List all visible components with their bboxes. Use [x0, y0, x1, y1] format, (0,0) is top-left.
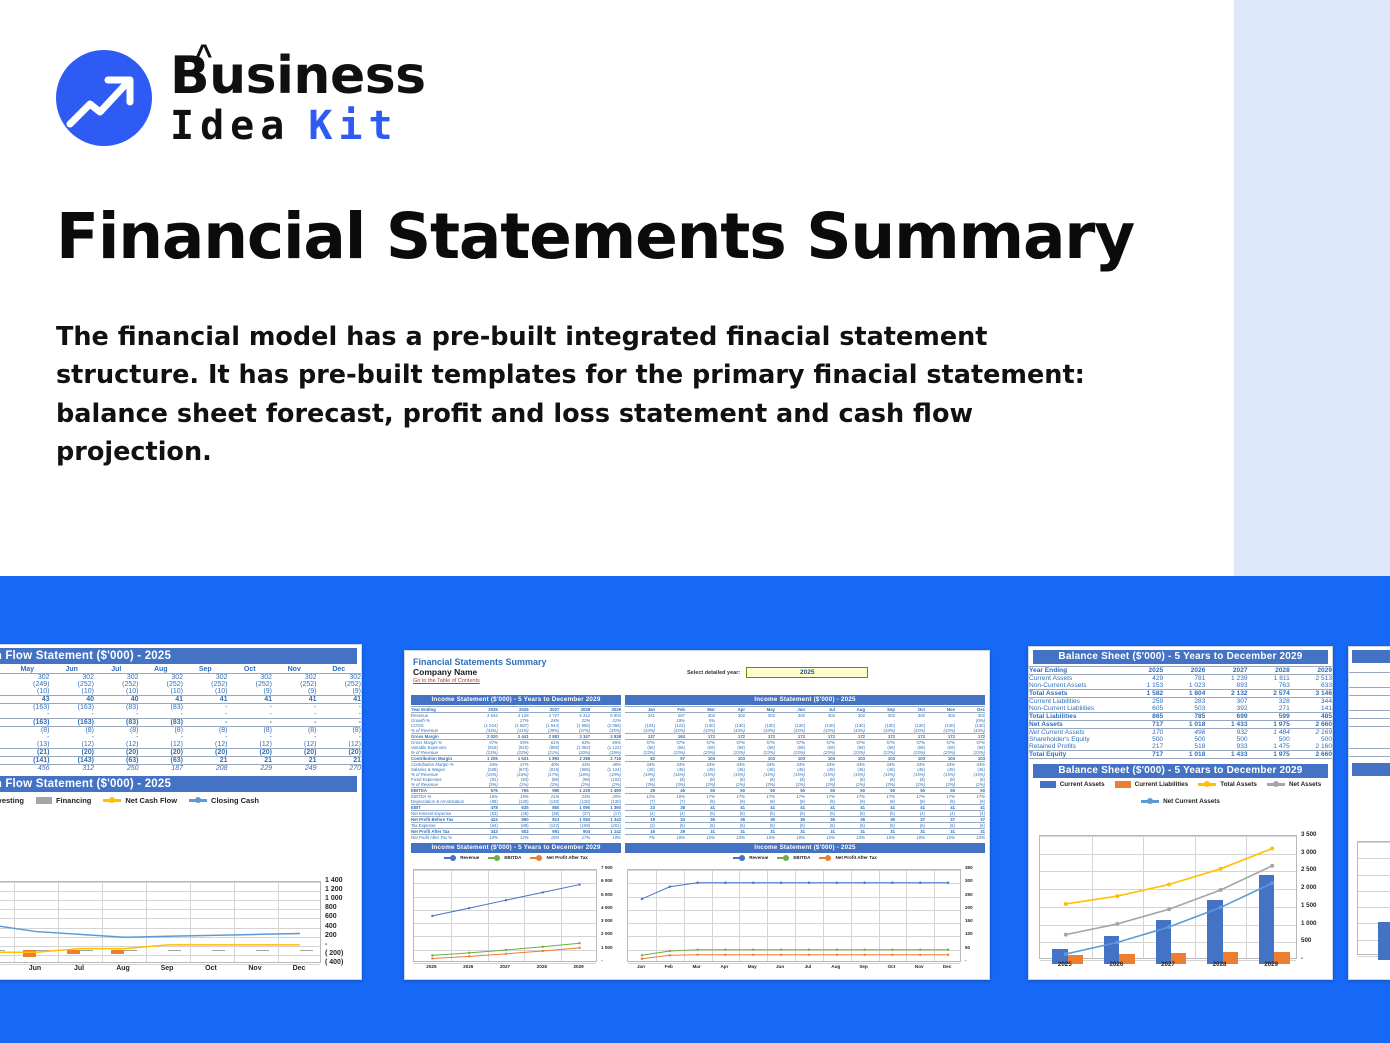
table-of-contents-link[interactable]: Go to the Table of Contents: [413, 678, 981, 684]
table-cell: (10): [50, 688, 95, 696]
table-row: (163)(163)(83)(83)----: [0, 704, 361, 712]
y-axis-tick: 1 000: [1301, 920, 1316, 927]
table-cell: 217: [1121, 743, 1163, 751]
table-cell: 932: [1205, 729, 1247, 737]
table-cell: 10%: [955, 835, 985, 841]
legend-label: Closing Cash: [211, 796, 259, 805]
table-cell: (143): [50, 757, 95, 765]
y-axis-tick: 2 000: [601, 931, 613, 936]
cashflow-chart-title: Cash Flow Statement ($'000) - 2025: [0, 776, 357, 792]
table-row: Net Profit After Tax %10%12%15%17%19%: [411, 835, 621, 841]
row-label: Depreciation & Amortisation: [411, 799, 467, 805]
table-cell: (63): [94, 757, 139, 765]
legend-label: Net Profit After Tax: [835, 855, 876, 860]
x-axis-tick: Mar: [683, 964, 711, 969]
year-selector-label: Select detailed year:: [687, 670, 740, 676]
table-cell: 170: [1121, 729, 1163, 737]
income-12m-chart[interactable]: 35030025020015010050-JanFebMarAprMayJunJ…: [625, 865, 985, 973]
table-cell: 498: [1163, 729, 1205, 737]
table-row: Current Assets4297811 2391 8112 513: [1029, 675, 1332, 683]
table-cell: (20): [50, 749, 95, 757]
col-header: Nov: [272, 666, 317, 674]
right-accent-panel: [1234, 0, 1390, 576]
table-cell: -: [228, 704, 273, 712]
table-row: (10)(10)(10)(10)(10)(9)(9)(9): [0, 688, 361, 696]
table-cell: -: [50, 711, 95, 719]
table-cell: 302: [5, 674, 50, 682]
table-cell: 10%: [925, 835, 955, 841]
table-cell: (163): [50, 719, 95, 727]
y-axis-tick: -: [601, 958, 603, 963]
table-cell: 302: [272, 674, 317, 682]
table-cell: 500: [1121, 736, 1163, 743]
table-cell: 599: [1248, 713, 1290, 721]
is12-chart-legend: Revenue EBITDA Net Profit After Tax: [625, 855, 985, 860]
x-axis-tick: Aug: [101, 965, 145, 972]
table-cell: 781: [1163, 675, 1205, 683]
col-header: May: [5, 666, 50, 674]
table-cell: 312: [50, 765, 95, 773]
x-axis-tick: 2026: [450, 964, 487, 969]
table-row: 4340404141414141: [0, 696, 361, 704]
table-cell: 15%: [529, 835, 560, 841]
table-cell: 2025: [1121, 667, 1163, 675]
col-header: Dec: [317, 666, 362, 674]
table-cell: 17%: [559, 835, 590, 841]
doc-title: Financial Statements Summary: [413, 657, 981, 667]
chart-lines: [1040, 836, 1298, 960]
balance-sheet-table: Year Ending20252026202720282029Current A…: [1029, 666, 1332, 759]
chart-lines: [628, 870, 962, 963]
table-row: 1 081: [1349, 727, 1390, 735]
slide-root: Business ^ Idea Kit Financial Statements…: [0, 0, 1390, 1043]
table-row: Total Liabilities865785699599485: [1029, 713, 1332, 721]
table-cell: -: [94, 734, 139, 741]
table-cell: -: [317, 734, 362, 741]
table-cell: 1 018: [1163, 751, 1205, 759]
y-axis-tick: 400: [325, 923, 337, 930]
edge-table-title: [1352, 650, 1390, 663]
table-cell: 43: [5, 696, 50, 704]
table-cell: (252): [94, 681, 139, 688]
plot-area: [1039, 835, 1297, 959]
y-axis-tick: 200: [965, 905, 973, 910]
chart-lines: [0, 882, 322, 964]
table-cell: 344: [1290, 698, 1332, 706]
table-cell: (8): [272, 727, 317, 735]
table-row: Non-Current Liabilities605503392271141: [1029, 705, 1332, 713]
row-label: Year Ending: [1029, 667, 1121, 675]
table-header-row: May Jun Jul Aug Sep Oct Nov Dec: [0, 666, 361, 674]
table-row: --------: [0, 734, 361, 741]
legend-label: EBITDA: [793, 855, 810, 860]
cashflow-table: May Jun Jul Aug Sep Oct Nov Dec 30230230…: [0, 666, 361, 772]
y-axis-tick: 1 200: [325, 886, 343, 893]
table-cell: 10%: [685, 835, 715, 841]
table-cell: (141): [5, 757, 50, 765]
table-cell: (63): [139, 757, 184, 765]
y-axis-tick: 4 000: [601, 905, 613, 910]
balance-screenshot-card[interactable]: Balance Sheet ($'000) - 5 Years to Decem…: [1028, 646, 1333, 980]
table-cell: (8): [139, 727, 184, 735]
table-cell: (10): [94, 688, 139, 696]
row-label: Total Liabilities: [1029, 713, 1121, 721]
x-axis-tick: Dec: [933, 964, 961, 969]
table-cell: 283: [1163, 698, 1205, 706]
table-cell: (8): [183, 727, 228, 735]
plot-area: [0, 881, 321, 963]
y-axis-tick: ( 400): [325, 959, 343, 966]
table-cell: 500: [1248, 736, 1290, 743]
table-cell: 933: [1205, 743, 1247, 751]
y-axis-tick: -: [1301, 955, 1303, 962]
year-selector-input[interactable]: 2025: [746, 667, 868, 678]
table-cell: -: [228, 711, 273, 719]
income-screenshot-card[interactable]: Financial Statements Summary Company Nam…: [404, 650, 990, 980]
table-row: (163)(163)(83)(83)----: [0, 719, 361, 727]
table-row: 500: [1349, 734, 1390, 741]
table-row: Jan: [1349, 665, 1390, 673]
row-label: Non-Current Liabilities: [1029, 705, 1121, 713]
col-header: Sep: [183, 666, 228, 674]
table-cell: (8): [50, 727, 95, 735]
table-row: 302302302302302302302302: [0, 674, 361, 682]
table-cell: 512: [1349, 749, 1390, 757]
table-cell: (252): [317, 681, 362, 688]
logo-word-idea: Idea: [170, 106, 290, 146]
table-cell: -: [50, 734, 95, 741]
table-cell: 302: [139, 674, 184, 682]
table-cell: 1 475: [1248, 743, 1290, 751]
table-cell: 41: [139, 696, 184, 704]
table-row: 512: [1349, 749, 1390, 757]
table-cell: 10%: [715, 835, 745, 841]
table-cell: (252): [183, 681, 228, 688]
table-cell: 93: [1349, 696, 1390, 704]
table-cell: 785: [1163, 713, 1205, 721]
table-cell: 1 811: [1248, 675, 1290, 683]
table-cell: 2 169: [1290, 729, 1332, 737]
page-title: Financial Statements Summary: [56, 204, 1176, 270]
table-cell: 302: [317, 674, 362, 682]
table-row: Total Assets1 5821 8042 1322 5743 146: [1029, 690, 1332, 698]
legend-label: Total Assets: [1220, 781, 1257, 788]
table-row: 93: [1349, 696, 1390, 704]
table-cell: (83): [139, 719, 184, 727]
table-row: 1 174: [1349, 673, 1390, 681]
table-cell: -: [228, 719, 273, 727]
table-cell: 2029: [1290, 667, 1332, 675]
table-cell: 307: [1205, 698, 1247, 706]
plot-area: [1357, 841, 1390, 955]
table-cell: (20): [183, 749, 228, 757]
table-cell: 40: [50, 696, 95, 704]
table-cell: 485: [1290, 713, 1332, 721]
table-cell: 2026: [1163, 667, 1205, 675]
table-cell: 10%: [835, 835, 865, 841]
table-row: (21)(20)(20)(20)(20)(20)(20)(20): [0, 749, 361, 757]
table-row: 512: [1349, 719, 1390, 727]
col-header: Oct: [228, 666, 273, 674]
table-cell: 1 153: [1121, 682, 1163, 690]
y-axis-tick: 1 500: [1301, 902, 1316, 909]
table-cell: 633: [1290, 682, 1332, 690]
table-cell: (8): [228, 727, 273, 735]
table-row: (249)(252)(252)(252)(252)(252)(252)(252): [0, 681, 361, 688]
table-cell: -: [272, 711, 317, 719]
x-axis-tick: Feb: [655, 964, 683, 969]
table-cell: (163): [50, 704, 95, 712]
table-row: Shareholder's Equity500500500500500: [1029, 736, 1332, 743]
table-cell: (10): [183, 688, 228, 696]
table-cell: 21: [228, 757, 273, 765]
table-cell: 518: [1163, 743, 1205, 751]
table-cell: (20): [94, 749, 139, 757]
table-cell: -: [183, 734, 228, 741]
row-label: Current Liabilities: [1029, 698, 1121, 706]
table-cell: -: [183, 719, 228, 727]
table-row: Retained Profits2175189331 4752 160: [1029, 743, 1332, 751]
table-cell: 717: [1121, 751, 1163, 759]
edge-chart[interactable]: Jan: [1355, 837, 1390, 969]
table-cell: 503: [1163, 705, 1205, 713]
table-cell: -: [139, 711, 184, 719]
table-cell: (9): [228, 688, 273, 696]
x-axis-tick: Oct: [878, 964, 906, 969]
table-cell: (83): [139, 704, 184, 712]
plot-area: [413, 869, 597, 962]
y-axis-tick: -: [965, 958, 967, 963]
table-cell: (12): [139, 741, 184, 749]
y-axis-tick: 600: [325, 913, 337, 920]
table-row: --------: [0, 711, 361, 719]
table-row: 786: [1349, 711, 1390, 719]
y-axis-tick: 7 000: [601, 865, 613, 870]
table-cell: 208: [183, 765, 228, 773]
table-cell: (163): [5, 704, 50, 712]
table-cell: 21: [272, 757, 317, 765]
x-axis-tick: 2025: [1039, 961, 1091, 968]
table-cell: 10%: [745, 835, 775, 841]
table-cell: (8): [94, 727, 139, 735]
legend-label: Current Liabilities: [1135, 781, 1189, 788]
legend-label: Current Assets: [1060, 781, 1105, 788]
table-cell: 893: [1205, 682, 1247, 690]
table-cell: 1 433: [1205, 751, 1247, 759]
table-cell: (252): [272, 681, 317, 688]
cashflow-screenshot-card[interactable]: Cash Flow Statement ($'000) - 2025 May J…: [0, 644, 362, 980]
table-cell: 500: [1349, 734, 1390, 741]
x-axis-tick: 2028: [1194, 961, 1246, 968]
table-row: (13)(12)(12)(12)(12)(12)(12)(12): [0, 741, 361, 749]
edge-table: Jan1 1741241 297936927865121 08150012512: [1349, 665, 1390, 757]
table-cell: 302: [228, 674, 273, 682]
y-axis-tick: 1 400: [325, 877, 343, 884]
x-axis-tick: Sep: [850, 964, 878, 969]
table-cell: (20): [139, 749, 184, 757]
y-axis-tick: ( 200): [325, 950, 343, 957]
table-cell: 40: [94, 696, 139, 704]
table-cell: (8): [5, 727, 50, 735]
page-description: The financial model has a pre-built inte…: [56, 318, 1086, 471]
table-row: 12: [1349, 741, 1390, 749]
table-cell: 19%: [590, 835, 621, 841]
table-cell: (9): [317, 688, 362, 696]
table-cell: 124: [1349, 680, 1390, 688]
x-axis-tick: 2027: [487, 964, 524, 969]
table-cell: 1 081: [1349, 727, 1390, 735]
income-5y-table: Year Ending20252026202720282029Revenue3 …: [411, 706, 621, 840]
table-cell: 10%: [655, 835, 685, 841]
table-cell: 41: [183, 696, 228, 704]
table-cell: 328: [1248, 698, 1290, 706]
balance-chart-title: Balance Sheet ($'000) - 5 Years to Decem…: [1033, 764, 1328, 778]
x-axis-tick: Jan: [627, 964, 655, 969]
x-axis-tick: 2027: [1142, 961, 1194, 968]
table-cell: 229: [228, 765, 273, 773]
table-cell: 141: [1290, 705, 1332, 713]
x-axis-tick: Apr: [711, 964, 739, 969]
table-cell: (8): [317, 727, 362, 735]
table-row: Total Equity7171 0181 4331 9752 660: [1029, 751, 1332, 759]
table-cell: 12: [1349, 741, 1390, 749]
y-axis-tick: 3 500: [1301, 831, 1316, 838]
table-cell: 10%: [467, 835, 498, 841]
brand-logo: Business ^ Idea Kit: [56, 50, 426, 146]
table-cell: 2 574: [1248, 690, 1290, 698]
table-cell: (13): [5, 741, 50, 749]
y-axis-tick: 2 500: [1301, 866, 1316, 873]
y-axis-tick: 1 000: [325, 895, 343, 902]
table-row: 456312250187208229249270: [0, 765, 361, 773]
y-axis-tick: 1 000: [601, 945, 613, 950]
table-cell: -: [317, 719, 362, 727]
table-cell: (252): [50, 681, 95, 688]
table-cell: (252): [228, 681, 273, 688]
legend-label: EBITDA: [504, 855, 521, 860]
table-cell: -: [272, 719, 317, 727]
table-cell: (83): [94, 704, 139, 712]
table-cell: 786: [1349, 711, 1390, 719]
cashflow-chart-legend: Investing Financing Net Cash Flow Closin…: [0, 796, 361, 805]
legend-label: Net Current Assets: [1163, 798, 1220, 805]
table-row: (8)(8)(8)(8)(8)(8)(8)(8): [0, 727, 361, 735]
row-label: Net Assets: [1029, 721, 1121, 729]
y-axis-tick: -: [325, 941, 327, 948]
table-cell: -: [228, 734, 273, 741]
chart-lines: [414, 870, 598, 963]
is5-title: Income Statement ($'000) - 5 Years to De…: [411, 695, 621, 705]
table-cell: 249: [272, 765, 317, 773]
table-cell: 500: [1163, 736, 1205, 743]
table-cell: -: [5, 734, 50, 741]
table-cell: 7%: [625, 835, 655, 841]
table-cell: 1 975: [1248, 721, 1290, 729]
table-cell: 302: [94, 674, 139, 682]
legend-label: Net Profit After Tax: [546, 855, 587, 860]
table-cell: (12): [50, 741, 95, 749]
table-cell: 21: [317, 757, 362, 765]
table-cell: 763: [1248, 682, 1290, 690]
table-cell: (163): [5, 719, 50, 727]
x-axis-tick: 2025: [413, 964, 450, 969]
table-row: (141)(143)(63)(63)21212121: [0, 757, 361, 765]
balance-table-title: Balance Sheet ($'000) - 5 Years to Decem…: [1033, 650, 1328, 664]
legend-label: Investing: [0, 796, 24, 805]
x-axis-tick: Jan: [1357, 957, 1390, 963]
x-axis-tick: Jun: [766, 964, 794, 969]
logo-hat-accent: ^: [195, 41, 213, 71]
table-cell: (12): [183, 741, 228, 749]
y-axis-tick: 50: [965, 945, 970, 950]
table-cell: 500: [1205, 736, 1247, 743]
table-cell: 865: [1121, 713, 1163, 721]
plot-area: [627, 869, 961, 962]
legend-label: Net Assets: [1289, 781, 1321, 788]
x-axis-tick: 2028: [523, 964, 560, 969]
table-cell: 2 132: [1205, 690, 1247, 698]
table-cell: (9): [272, 688, 317, 696]
y-axis-tick: 350: [965, 865, 973, 870]
table-cell: 1 975: [1248, 751, 1290, 759]
y-axis-tick: 6 000: [601, 878, 613, 883]
table-cell: 10%: [805, 835, 835, 841]
x-axis-tick: May: [0, 965, 13, 972]
x-axis-tick: 2029: [560, 964, 597, 969]
x-axis-tick: May: [738, 964, 766, 969]
income-5y-chart[interactable]: 7 0006 0005 0004 0003 0002 0001 000-2025…: [411, 865, 621, 973]
row-label: Total Assets: [1029, 690, 1121, 698]
table-cell: (12): [94, 741, 139, 749]
x-axis-tick: Nov: [233, 965, 277, 972]
row-label: Net Profit After Tax %: [411, 835, 467, 841]
balance-chart-legend: Current Assets Current Liabilities Total…: [1029, 781, 1332, 805]
x-axis-tick: Jul: [794, 964, 822, 969]
row-label: Shareholder's Equity: [1029, 736, 1121, 743]
table-cell: 41: [272, 696, 317, 704]
y-axis-tick: 3 000: [601, 918, 613, 923]
table-cell: (21): [5, 749, 50, 757]
chart-lines: [1358, 842, 1390, 956]
table-cell: 270: [317, 765, 362, 773]
table-cell: (20): [272, 749, 317, 757]
table-cell: 2 660: [1290, 751, 1332, 759]
table-cell: 1 018: [1163, 721, 1205, 729]
table-cell: 605: [1121, 705, 1163, 713]
table-cell: 2 160: [1290, 743, 1332, 751]
table-cell: 41: [228, 696, 273, 704]
table-row: Non-Current Assets1 1531 023893763633: [1029, 682, 1332, 690]
table-cell: (12): [317, 741, 362, 749]
table-cell: 500: [1290, 736, 1332, 743]
table-cell: 302: [183, 674, 228, 682]
y-axis-tick: 800: [325, 904, 337, 911]
col-header: Aug: [139, 666, 184, 674]
col-header: Jan: [1349, 665, 1390, 673]
table-cell: 12%: [498, 835, 529, 841]
table-cell: (10): [139, 688, 184, 696]
chart-arrow-up-icon: [56, 50, 152, 146]
cashflow-chart[interactable]: 1 4001 2001 000800600400200-( 200)( 400)…: [0, 877, 357, 977]
table-cell: 10%: [895, 835, 925, 841]
table-cell: 302: [50, 674, 95, 682]
is12-title: Income Statement ($'000) - 2025: [625, 695, 985, 705]
edge-screenshot-card[interactable]: Jan1 1741241 297936927865121 08150012512…: [1348, 646, 1390, 980]
x-axis-tick: Jun: [13, 965, 57, 972]
balance-sheet-chart[interactable]: 3 5003 0002 5002 0001 5001 000500-202520…: [1037, 831, 1327, 973]
row-label: Total Equity: [1029, 751, 1121, 759]
table-cell: (10): [5, 688, 50, 696]
